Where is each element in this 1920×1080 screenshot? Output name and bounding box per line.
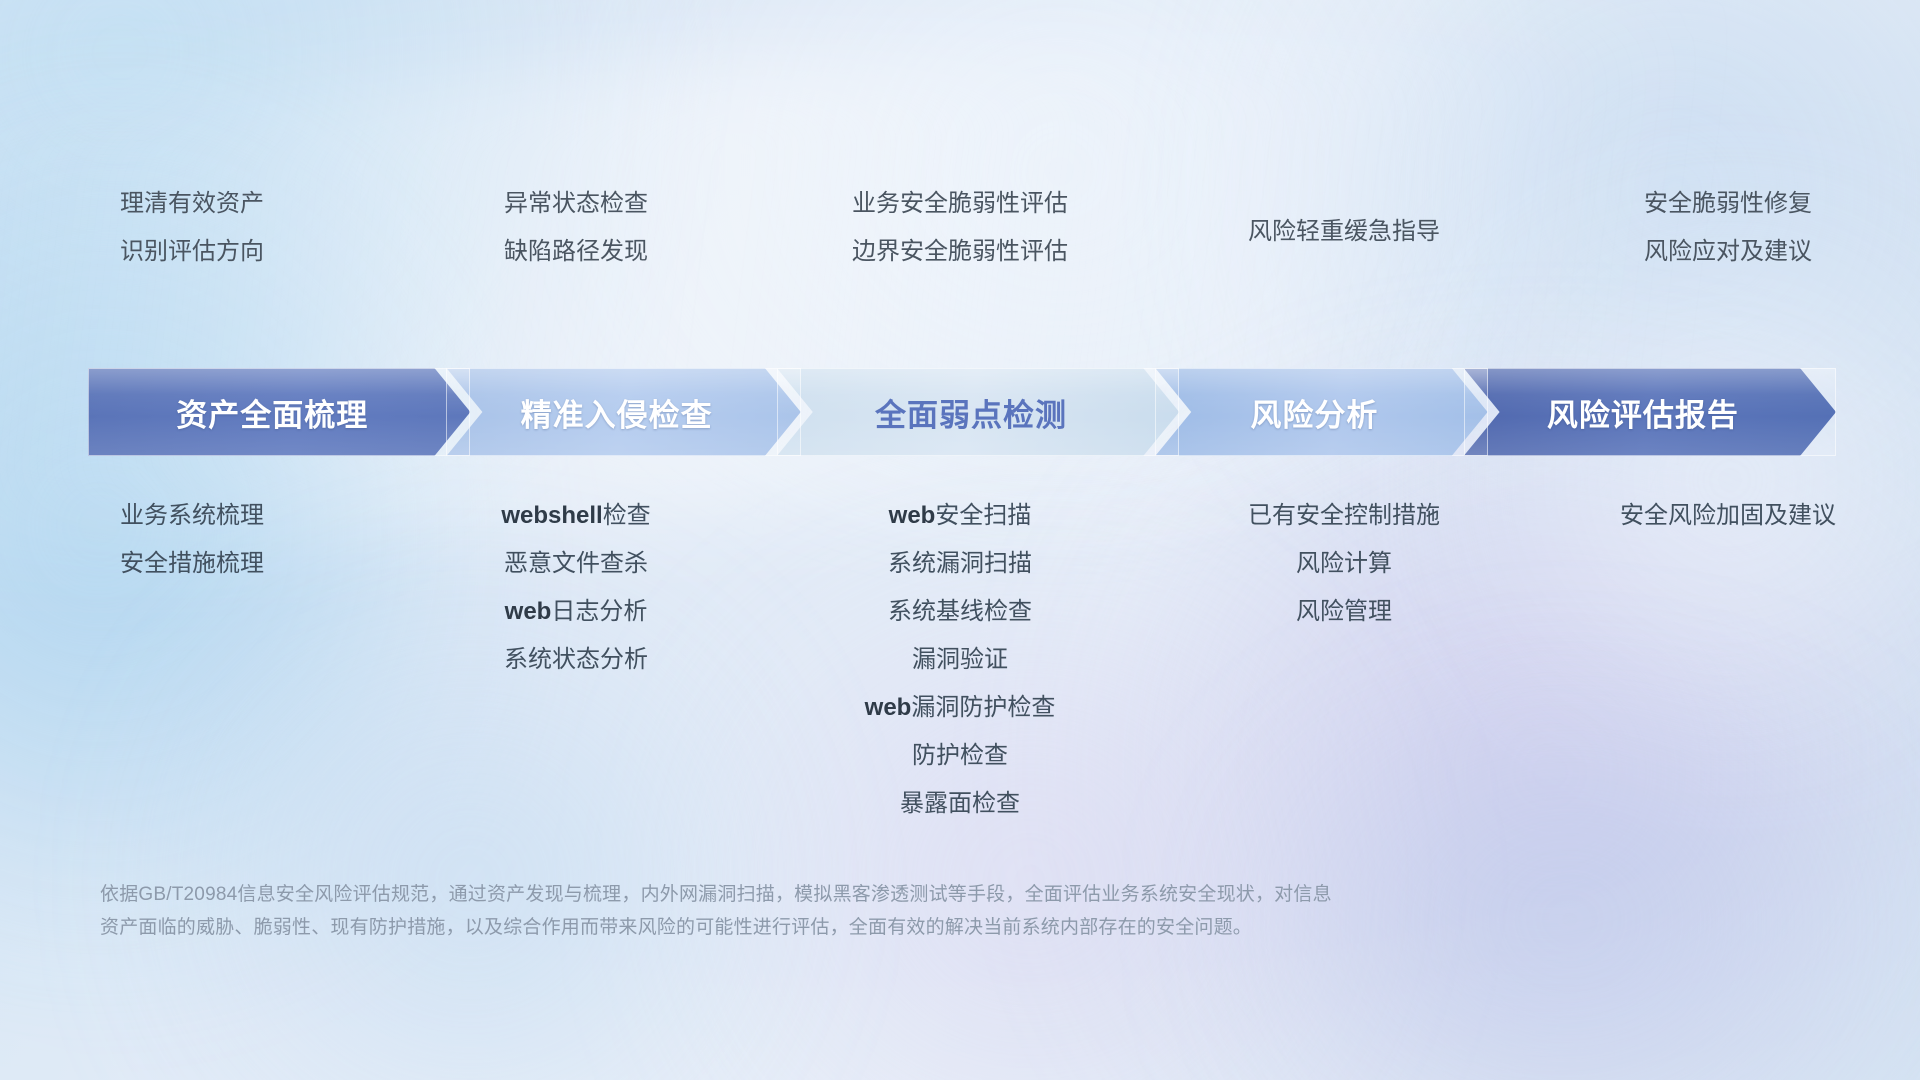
process-flow-diagram: 理清有效资产识别评估方向异常状态检查缺陷路径发现业务安全脆弱性评估边界安全脆弱性… bbox=[0, 0, 1920, 1080]
stage-activity-line: webshell检查 bbox=[501, 492, 650, 540]
stage-activity-line: web漏洞防护检查 bbox=[865, 684, 1056, 732]
stage-title-risk-analysis: 风险分析 bbox=[1250, 390, 1378, 435]
stage-activity-line: 系统漏洞扫描 bbox=[888, 540, 1032, 588]
stage-output-line: 异常状态检查 bbox=[504, 180, 648, 228]
stage-title-weakness-detection: 全面弱点检测 bbox=[875, 390, 1067, 435]
stage-activity-line: 已有安全控制措施 bbox=[1248, 492, 1440, 540]
stage-title-intrusion-check: 精准入侵检查 bbox=[521, 390, 713, 435]
stage-activities-asset-inventory: 业务系统梳理安全措施梳理 bbox=[0, 470, 384, 588]
stage-activity-line: 漏洞验证 bbox=[912, 636, 1008, 684]
stage-outputs-risk-report: 安全脆弱性修复风险应对及建议 bbox=[1536, 180, 1920, 320]
stage-output-line: 风险应对及建议 bbox=[1644, 228, 1812, 276]
stage-activity-line: web日志分析 bbox=[505, 588, 648, 636]
stage-activity-line: 恶意文件查杀 bbox=[504, 540, 648, 588]
stage-activity-line: 系统基线检查 bbox=[888, 588, 1032, 636]
stage-activity-line: 系统状态分析 bbox=[504, 636, 648, 684]
stage-activity-line: web安全扫描 bbox=[889, 492, 1032, 540]
stage-chevron-band: 资产全面梳理精准入侵检查全面弱点检测风险分析风险评估报告 bbox=[88, 368, 1836, 456]
stage-activity-line: 业务系统梳理 bbox=[120, 492, 264, 540]
stage-activity-line: 防护检查 bbox=[912, 732, 1008, 780]
footer-description: 依据GB/T20984信息安全风险评估规范，通过资产发现与梳理，内外网漏洞扫描，… bbox=[100, 878, 1660, 944]
stage-outputs-risk-analysis: 风险轻重缓急指导 bbox=[1152, 180, 1536, 320]
stage-activity-line: 安全风险加固及建议 bbox=[1620, 492, 1836, 540]
stage-outputs-row: 理清有效资产识别评估方向异常状态检查缺陷路径发现业务安全脆弱性评估边界安全脆弱性… bbox=[0, 180, 1920, 320]
stage-output-line: 业务安全脆弱性评估 bbox=[852, 180, 1068, 228]
footer-line-1: 依据GB/T20984信息安全风险评估规范，通过资产发现与梳理，内外网漏洞扫描，… bbox=[100, 878, 1660, 911]
stage-title-asset-inventory: 资产全面梳理 bbox=[176, 390, 368, 435]
stage-title-risk-report: 风险评估报告 bbox=[1547, 390, 1739, 435]
stage-chevron-risk-analysis[interactable]: 风险分析 bbox=[1155, 368, 1487, 456]
stage-activity-line: 安全措施梳理 bbox=[120, 540, 264, 588]
stage-activities-row: 业务系统梳理安全措施梳理webshell检查恶意文件查杀web日志分析系统状态分… bbox=[0, 470, 1920, 828]
stage-output-line: 理清有效资产 bbox=[120, 180, 264, 228]
stage-chevron-intrusion-check[interactable]: 精准入侵检查 bbox=[446, 368, 800, 456]
stage-outputs-weakness-detection: 业务安全脆弱性评估边界安全脆弱性评估 bbox=[768, 180, 1152, 320]
footer-line-2: 资产面临的威胁、脆弱性、现有防护措施，以及综合作用而带来风险的可能性进行评估，全… bbox=[100, 911, 1660, 944]
stage-activity-line: 风险计算 bbox=[1296, 540, 1392, 588]
stage-chevron-weakness-detection[interactable]: 全面弱点检测 bbox=[777, 368, 1179, 456]
stage-chevron-asset-inventory[interactable]: 资产全面梳理 bbox=[88, 368, 470, 456]
stage-output-line: 缺陷路径发现 bbox=[504, 228, 648, 276]
stage-output-line: 风险轻重缓急指导 bbox=[1248, 208, 1440, 256]
stage-output-line: 安全脆弱性修复 bbox=[1644, 180, 1812, 228]
stage-activities-risk-analysis: 已有安全控制措施风险计算风险管理 bbox=[1152, 470, 1536, 636]
stage-activities-risk-report: 安全风险加固及建议 bbox=[1536, 470, 1920, 540]
stage-activities-weakness-detection: web安全扫描系统漏洞扫描系统基线检查漏洞验证web漏洞防护检查防护检查暴露面检… bbox=[768, 470, 1152, 828]
stage-activities-intrusion-check: webshell检查恶意文件查杀web日志分析系统状态分析 bbox=[384, 470, 768, 684]
stage-activity-line: 暴露面检查 bbox=[900, 780, 1020, 828]
stage-outputs-asset-inventory: 理清有效资产识别评估方向 bbox=[0, 180, 384, 320]
stage-chevron-risk-report[interactable]: 风险评估报告 bbox=[1464, 368, 1836, 456]
stage-outputs-intrusion-check: 异常状态检查缺陷路径发现 bbox=[384, 180, 768, 320]
stage-activity-line: 风险管理 bbox=[1296, 588, 1392, 636]
stage-output-line: 边界安全脆弱性评估 bbox=[852, 228, 1068, 276]
stage-output-line: 识别评估方向 bbox=[120, 228, 264, 276]
